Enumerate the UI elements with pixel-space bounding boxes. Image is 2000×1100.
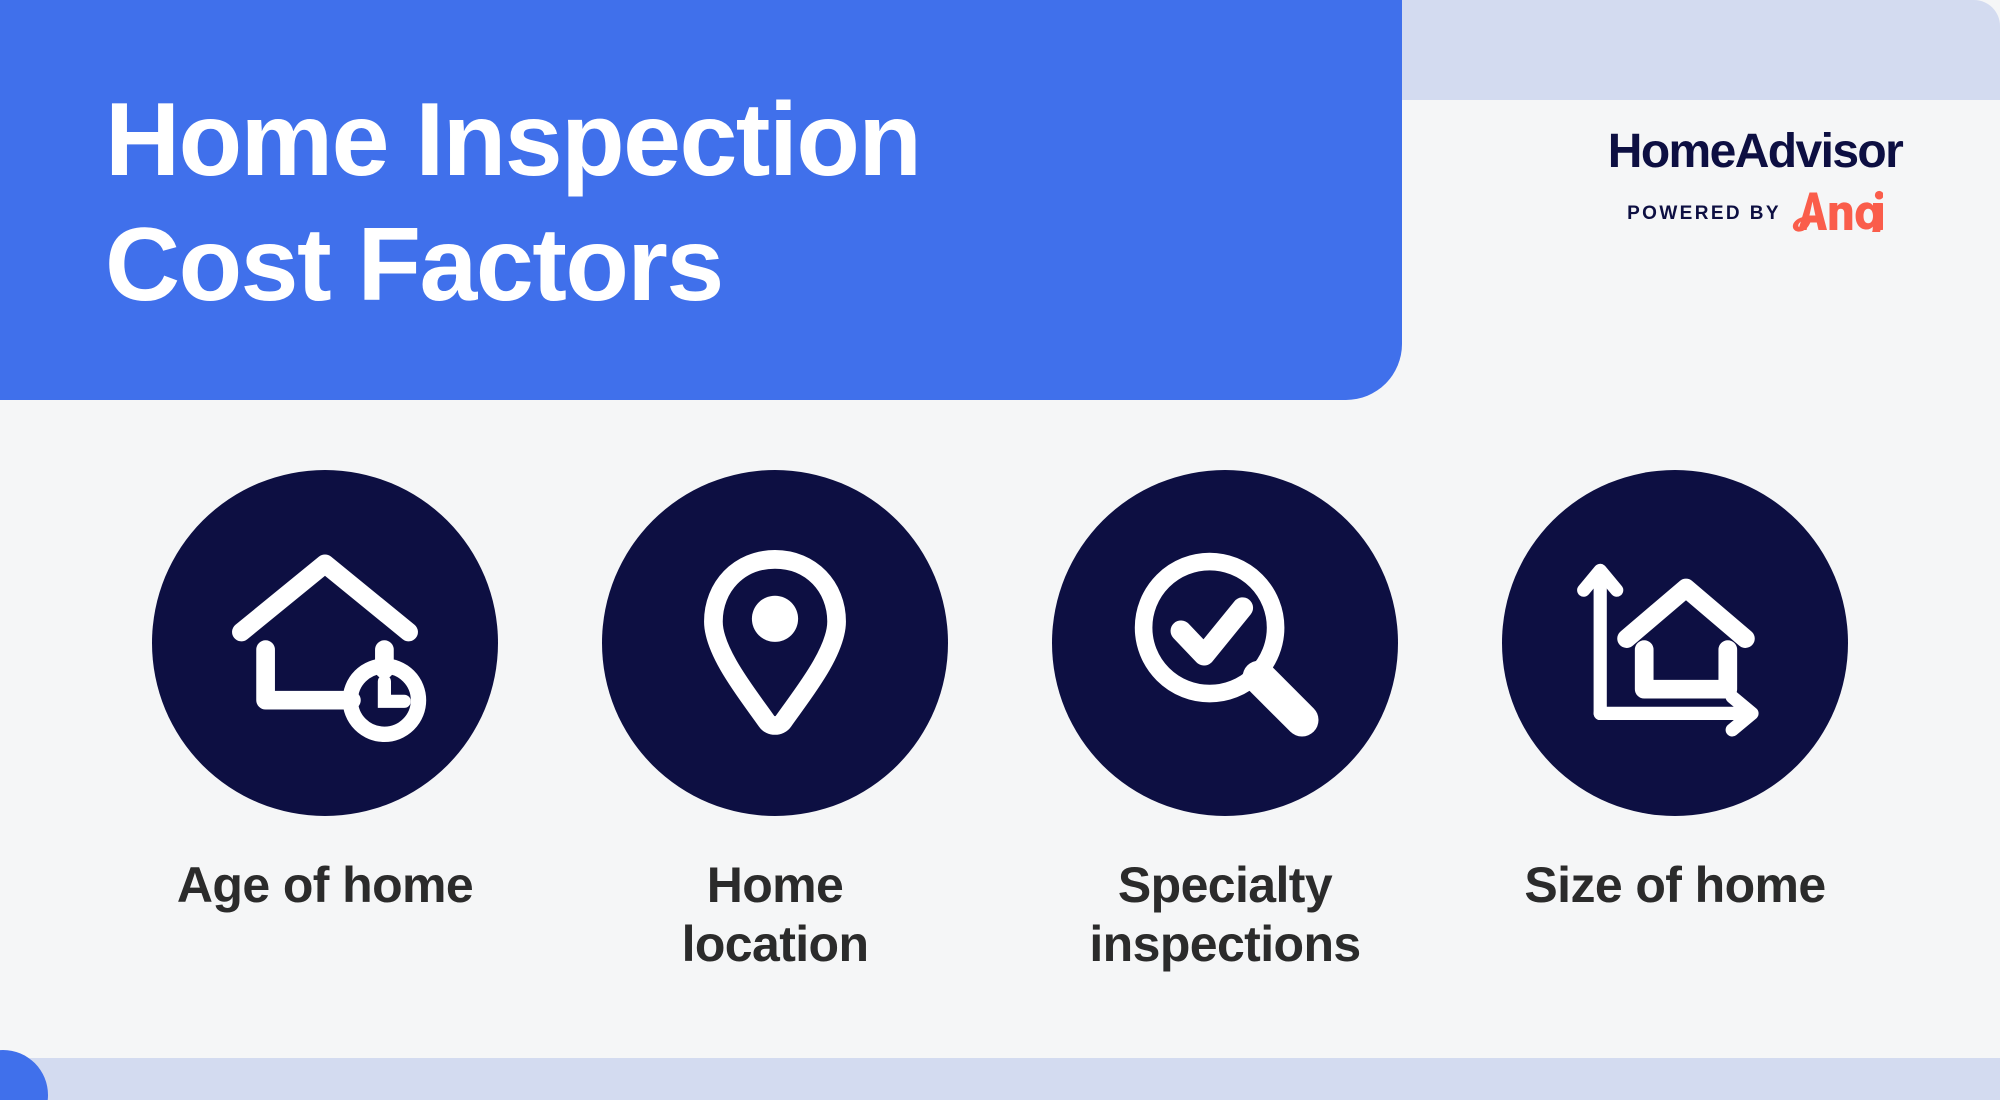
factor-card-label: Home location (682, 856, 869, 974)
house-measure-icon (1502, 470, 1848, 816)
factor-card-specialty-inspections: Specialty inspections (1000, 470, 1450, 974)
factor-card-label: Size of home (1524, 856, 1825, 915)
map-pin-icon (602, 470, 948, 816)
house-clock-icon (152, 470, 498, 816)
factor-card-size-of-home: Size of home (1450, 470, 1900, 974)
factor-card-home-location: Home location (550, 470, 1000, 974)
brand-lockup: HomeAdvisor POWERED BY (1580, 128, 1930, 237)
powered-by-row: POWERED BY (1627, 190, 1883, 237)
lavender-bottom-band (0, 1058, 2000, 1100)
homeadvisor-wordmark: HomeAdvisor (1608, 128, 1902, 176)
infographic-canvas: Home Inspection Cost Factors HomeAdvisor… (0, 0, 2000, 1100)
magnifier-check-icon (1052, 470, 1398, 816)
powered-by-label: POWERED BY (1627, 204, 1781, 223)
page-title: Home Inspection Cost Factors (105, 78, 1402, 328)
factor-card-label: Specialty inspections (1089, 856, 1360, 974)
header-panel: Home Inspection Cost Factors (0, 0, 1402, 400)
lavender-top-band (1402, 0, 2000, 100)
factor-card-age-of-home: Age of home (100, 470, 550, 974)
cost-factors-row: Age of home Home location Specialty i (100, 470, 1900, 974)
factor-card-label: Age of home (177, 856, 473, 915)
angi-logo-icon (1791, 190, 1883, 237)
